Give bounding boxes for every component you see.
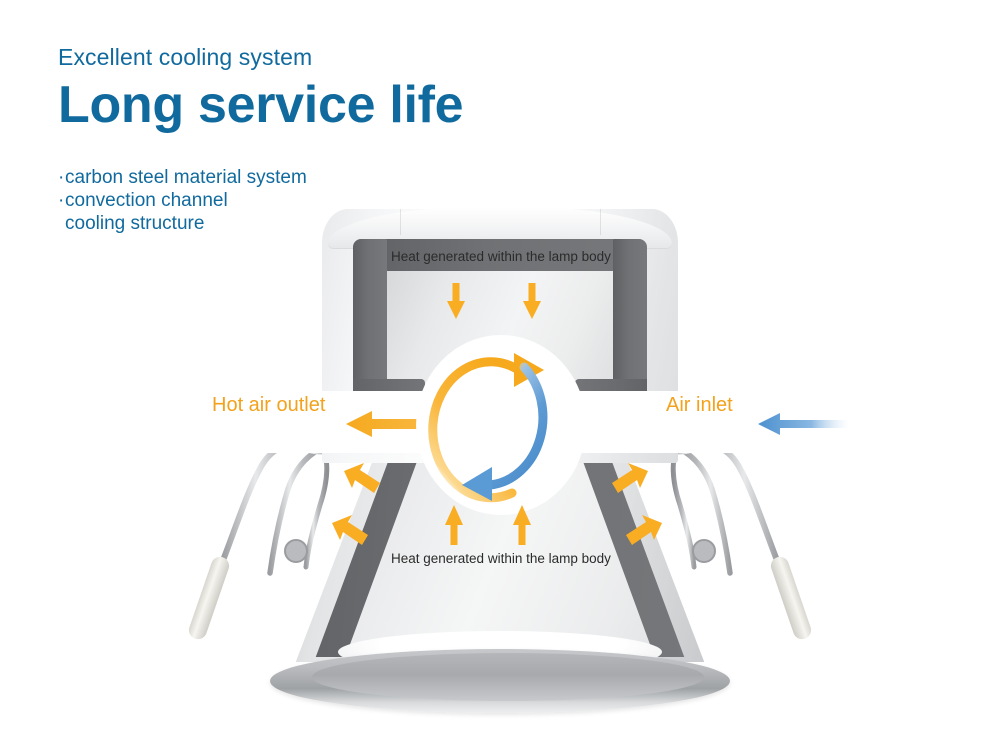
arrow-down-orange-icon [522,283,542,319]
arrow-up-right-orange-icon [626,515,662,547]
top-cap-seam [400,209,401,235]
air-inlet-label: Air inlet [666,394,733,417]
arrow-up-orange-icon [512,505,532,545]
infographic-page: Excellent cooling system Long service li… [0,0,1000,752]
heat-note-top-label: Heat generated within the lamp body [391,249,611,264]
list-item: ·carbon steel material system [58,166,578,189]
heat-note-bottom-label: Heat generated within the lamp body [391,551,611,566]
top-cap-seam [600,209,601,235]
bullet-dot-icon: · [58,166,65,189]
hot-air-outlet-label: Hot air outlet [212,394,325,417]
arrow-up-right-orange-icon [612,463,648,495]
arrow-up-orange-icon [444,505,464,545]
circular-convection-arrows-icon [428,345,574,505]
page-title: Long service life [58,74,578,136]
arrow-up-left-orange-icon [332,515,368,547]
arrow-up-left-orange-icon [344,463,380,495]
arrow-down-orange-icon [446,283,466,319]
lamp-cutaway-diagram: Heat generated within the lamp body Hot … [150,195,850,695]
lamp-base-rim-inner [312,653,704,701]
list-item-label: carbon steel material system [65,167,307,188]
eyebrow-text: Excellent cooling system [58,42,578,72]
arrow-left-blue-icon [758,411,850,437]
bullet-dot-icon: · [58,189,65,212]
